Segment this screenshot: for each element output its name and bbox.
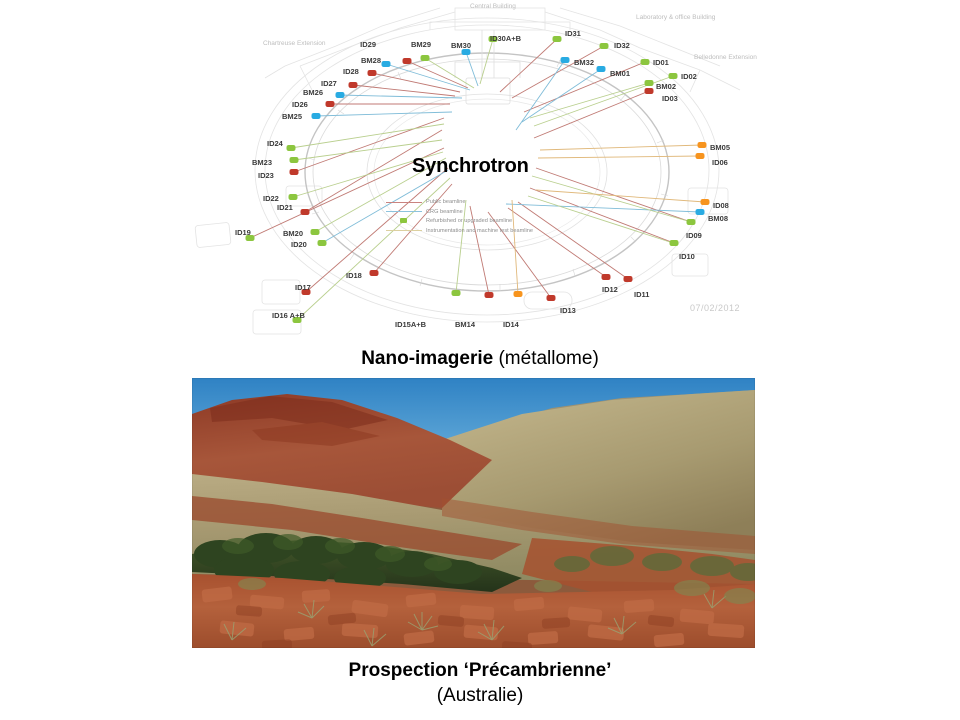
legend-row-1: CRG beamline [382, 208, 612, 216]
beamline-label-id18: ID18 [346, 271, 362, 280]
beamline-marker-bm29 [421, 55, 430, 61]
precambrian-outcrop-photo [192, 378, 755, 648]
beamline-label-id17: ID17 [295, 283, 311, 292]
legend-line-icon [386, 211, 422, 212]
beamline-label-id14: ID14 [503, 320, 519, 329]
building-label-laboratory-office-building: Laboratory & office Building [636, 14, 715, 21]
beamline-marker-id10 [670, 240, 679, 246]
beamline-label-id30ab: ID30A+B [490, 34, 521, 43]
beamline-label-id29: ID29 [360, 40, 376, 49]
beamline-label-id15ab: ID15A+B [395, 320, 426, 329]
synchrotron-overlay-title: Synchrotron [412, 155, 529, 178]
beamline-marker-bm26 [336, 92, 345, 98]
legend-label: Instrumentation and machine test beamlin… [426, 228, 533, 234]
beamline-label-bm32: BM32 [574, 58, 594, 67]
beamline-connectors [250, 39, 705, 320]
beamline-label-bm30: BM30 [451, 41, 471, 50]
beamline-label-id26: ID26 [292, 100, 308, 109]
beamline-label-bm01: BM01 [610, 69, 630, 78]
beamline-marker-id01 [641, 59, 650, 65]
beamline-marker-id26 [326, 101, 335, 107]
beamline-marker-id06 [696, 153, 705, 159]
beamline-marker-id31 [553, 36, 562, 42]
beamline-label-id01: ID01 [653, 58, 669, 67]
beamline-marker-id29 [403, 58, 412, 64]
legend-line-icon [386, 230, 422, 231]
beamline-marker-id32 [600, 43, 609, 49]
beamline-marker-id11 [624, 276, 633, 282]
beamline-label-bm20: BM20 [283, 229, 303, 238]
legend-key-line-icon [382, 198, 426, 206]
beamline-label-id13: ID13 [560, 306, 576, 315]
beamline-marker-bm28 [382, 61, 391, 67]
beamline-marker-bm32 [561, 57, 570, 63]
beamline-marker-id28 [368, 70, 377, 76]
beamline-label-bm02: BM02 [656, 82, 676, 91]
beamline-label-id10: ID10 [679, 252, 695, 261]
beamline-label-bm28: BM28 [361, 56, 381, 65]
beamline-marker-id13 [547, 295, 556, 301]
beamline-label-id22: ID22 [263, 194, 279, 203]
beamline-marker-bm20 [311, 229, 320, 235]
legend-key-line-icon [382, 208, 426, 216]
beamline-marker-bm08 [696, 209, 705, 215]
building-label-central-building: Central Building [470, 3, 516, 10]
beamline-legend: Public beamlineCRG beamlineRefurbished o… [382, 198, 612, 236]
beamline-markers [246, 36, 710, 323]
legend-label: CRG beamline [426, 209, 463, 215]
legend-row-2: Refurbished or upgraded beamline [382, 217, 612, 225]
synchrotron-diagram-panel: ID29BM29BM30ID30A+BID31ID32BM32ID01BM01I… [0, 0, 960, 340]
building-label-belledonne-extension: Belledonne Extension [694, 54, 757, 61]
beamline-marker-id08 [701, 199, 710, 205]
beamline-marker-bm05 [698, 142, 707, 148]
beamline-label-id02: ID02 [681, 72, 697, 81]
beamline-label-bm23: BM23 [252, 158, 272, 167]
beamline-label-id06: ID06 [712, 158, 728, 167]
beamline-marker-id15ab [452, 290, 461, 296]
beamline-marker-bm02 [645, 80, 654, 86]
caption-photo-normal: (Australie) [0, 683, 960, 708]
beamline-marker-bm23 [290, 157, 299, 163]
beamline-label-id16ab: ID16 A+B [272, 311, 305, 320]
beamline-label-bm29: BM29 [411, 40, 431, 49]
beamline-marker-bm25 [312, 113, 321, 119]
beamline-label-id24: ID24 [267, 139, 283, 148]
slide-root: ID29BM29BM30ID30A+BID31ID32BM32ID01BM01I… [0, 0, 960, 720]
beamline-label-id27: ID27 [321, 79, 337, 88]
beamline-marker-id24 [287, 145, 296, 151]
beamline-marker-id22 [289, 194, 298, 200]
beamline-label-id12: ID12 [602, 285, 618, 294]
beamline-label-id19: ID19 [235, 228, 251, 237]
caption-photo-bold: Prospection ‘Précambrienne’ [0, 658, 960, 683]
beamline-marker-id18 [370, 270, 379, 276]
beamline-label-id03: ID03 [662, 94, 678, 103]
legend-label: Public beamline [426, 199, 466, 205]
beamline-marker-bm14 [485, 292, 494, 298]
beamline-marker-id21 [301, 209, 310, 215]
beamline-marker-id12 [602, 274, 611, 280]
legend-row-0: Public beamline [382, 198, 612, 206]
caption-photo: Prospection ‘Précambrienne’ (Australie) [0, 658, 960, 708]
beamline-label-id31: ID31 [565, 29, 581, 38]
legend-line-icon [386, 202, 422, 203]
beamline-label-id09: ID09 [686, 231, 702, 240]
photo-graphic [192, 378, 755, 648]
beamline-marker-id02 [669, 73, 678, 79]
beamline-marker-id27 [349, 82, 358, 88]
diagram-date-stamp: 07/02/2012 [690, 303, 740, 313]
legend-swatch-icon [400, 218, 407, 223]
beamline-marker-id03 [645, 88, 654, 94]
legend-row-3: Instrumentation and machine test beamlin… [382, 227, 612, 235]
beamline-label-bm05: BM05 [710, 143, 730, 152]
beamline-label-bm25: BM25 [282, 112, 302, 121]
beamline-label-bm26: BM26 [303, 88, 323, 97]
caption-synchrotron: Nano-imagerie (métallome) [0, 348, 960, 370]
building-label-chartreuse-extension: Chartreuse Extension [263, 40, 326, 47]
caption-synchrotron-normal: (métallome) [498, 348, 598, 369]
beamline-label-id21: ID21 [277, 203, 293, 212]
caption-synchrotron-bold: Nano-imagerie [361, 348, 498, 369]
beamline-marker-bm01 [597, 66, 606, 72]
beamline-label-id32: ID32 [614, 41, 630, 50]
beamline-label-id20: ID20 [291, 240, 307, 249]
beamline-label-id11: ID11 [634, 290, 649, 299]
beamline-marker-id14 [514, 291, 523, 297]
beamline-marker-id09 [687, 219, 696, 225]
beamline-label-id23: ID23 [258, 171, 274, 180]
legend-key-line-icon [382, 227, 426, 235]
beamline-marker-id20 [318, 240, 327, 246]
legend-label: Refurbished or upgraded beamline [426, 218, 512, 224]
beamline-label-id28: ID28 [343, 67, 359, 76]
beamline-label-bm14: BM14 [455, 320, 475, 329]
beamline-marker-id23 [290, 169, 299, 175]
legend-key-square-icon [382, 217, 426, 225]
beamline-label-id08: ID08 [713, 201, 729, 210]
beamline-label-bm08: BM08 [708, 214, 728, 223]
